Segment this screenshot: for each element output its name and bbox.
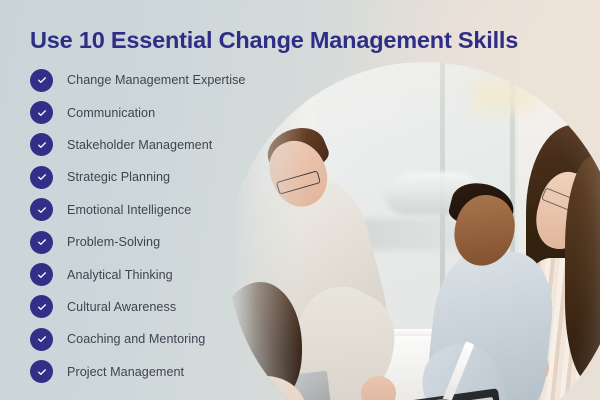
infographic-canvas: Use 10 Essential Change Management Skill… [0,0,600,400]
skill-item: Communication [30,96,290,128]
check-circle-icon [30,101,53,124]
skill-label: Communication [67,106,155,120]
skill-item: Problem-Solving [30,226,290,258]
skill-item: Cultural Awareness [30,291,290,323]
check-circle-icon [30,360,53,383]
skill-label: Change Management Expertise [67,73,245,87]
skill-label: Strategic Planning [67,170,170,184]
skill-label: Analytical Thinking [67,268,173,282]
skill-label: Problem-Solving [67,235,160,249]
check-circle-icon [30,263,53,286]
skill-item: Strategic Planning [30,161,290,193]
skill-item: Coaching and Mentoring [30,323,290,355]
check-circle-icon [30,69,53,92]
check-circle-icon [30,231,53,254]
skill-label: Stakeholder Management [67,138,212,152]
check-circle-icon [30,295,53,318]
skill-label: Project Management [67,365,184,379]
check-circle-icon [30,133,53,156]
skill-item: Project Management [30,356,290,388]
check-circle-icon [30,328,53,351]
skill-item: Stakeholder Management [30,129,290,161]
skill-label: Coaching and Mentoring [67,332,205,346]
person-right-woman-hair-strand [565,156,600,383]
check-circle-icon [30,198,53,221]
skill-item: Analytical Thinking [30,258,290,290]
window-light-flare [471,78,534,113]
skill-label: Emotional Intelligence [67,203,191,217]
skill-item: Change Management Expertise [30,64,290,96]
page-title: Use 10 Essential Change Management Skill… [30,27,575,54]
skill-item: Emotional Intelligence [30,194,290,226]
skill-label: Cultural Awareness [67,300,176,314]
check-circle-icon [30,166,53,189]
skills-checklist: Change Management ExpertiseCommunication… [30,64,290,388]
